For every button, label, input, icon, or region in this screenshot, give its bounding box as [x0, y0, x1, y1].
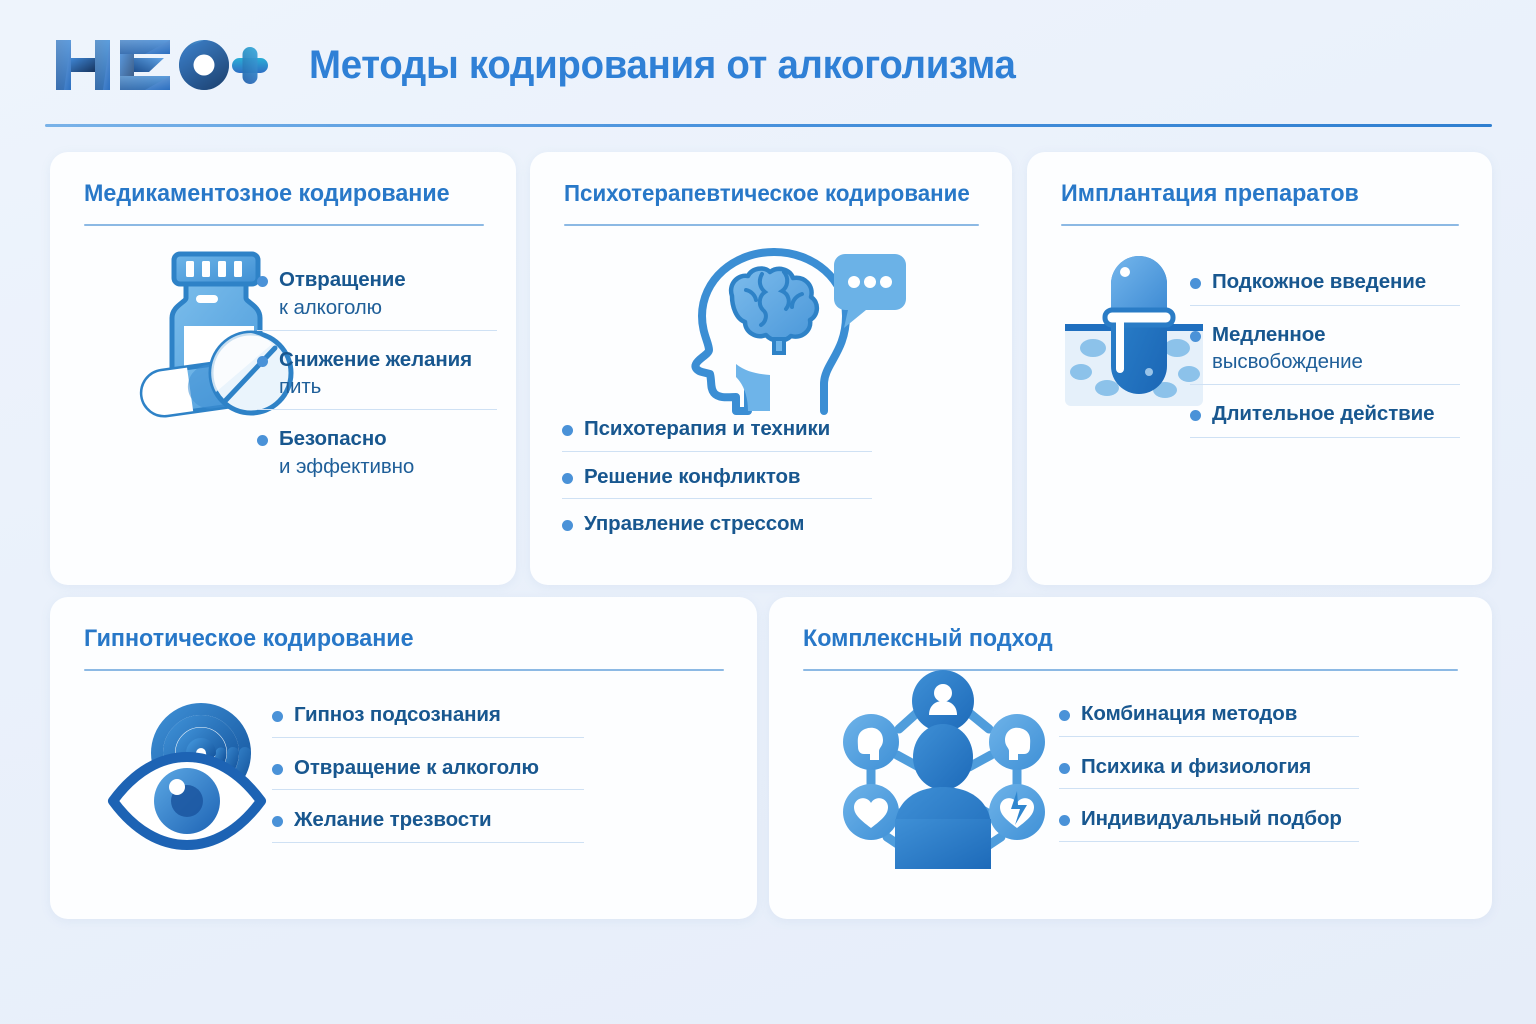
bullet-primary-text: Психотерапия и техники: [584, 416, 872, 443]
bullet-list: Отвращение к алкоголю Снижение желания п…: [257, 267, 497, 505]
bullet-primary-text: Гипноз подсознания: [294, 702, 584, 729]
bullet-list: Комбинация методов Психика и физиология …: [1059, 701, 1359, 859]
hypnosis-eye-spiral-icon: [105, 677, 295, 847]
list-item[interactable]: Комбинация методов: [1059, 701, 1359, 737]
list-item[interactable]: Желание трезвости: [272, 807, 584, 843]
list-item[interactable]: Отвращение к алкоголю: [272, 755, 584, 791]
bullet-primary-text: Отвращение: [279, 267, 497, 294]
capsule-implant-icon: [1059, 248, 1209, 418]
people-network-icon: [827, 669, 1042, 869]
card-psychotherapy-coding[interactable]: Психотерапевтическое кодирование: [530, 152, 1012, 585]
bullet-primary-text: Снижение желания: [279, 347, 497, 374]
card-title: Гипнотическое кодирование: [84, 627, 414, 651]
bullet-primary-text: Комбинация методов: [1081, 701, 1359, 728]
bullet-primary-text: Решение конфликтов: [584, 464, 872, 491]
list-item[interactable]: Отвращение к алкоголю: [257, 267, 497, 331]
list-item[interactable]: Безопасно и эффективно: [257, 426, 497, 489]
bullet-secondary-text: к алкоголю: [279, 294, 497, 321]
card-title-underline: [84, 224, 484, 226]
bullet-dot-icon: [1059, 763, 1070, 774]
bullet-dot-icon: [257, 435, 268, 446]
bullet-dot-icon: [562, 425, 573, 436]
infographic-page: Методы кодирования от алкоголизма Медика…: [0, 0, 1536, 1024]
bullet-dot-icon: [1059, 710, 1070, 721]
bullet-dot-icon: [272, 711, 283, 722]
card-implantation[interactable]: Имплантация препаратов: [1027, 152, 1492, 585]
bullet-primary-text: Безопасно: [279, 426, 497, 453]
card-title: Психотерапевтическое кодирование: [564, 182, 970, 205]
card-medication-coding[interactable]: Медикаментозное кодирование: [50, 152, 516, 585]
card-title: Медикаментозное кодирование: [84, 182, 450, 206]
card-title: Имплантация препаратов: [1061, 182, 1359, 206]
list-item[interactable]: Психотерапия и техники: [562, 416, 872, 452]
bullet-dot-icon: [257, 356, 268, 367]
list-item[interactable]: Управление стрессом: [562, 511, 872, 546]
bullet-dot-icon: [562, 520, 573, 531]
page-title: Методы кодирования от алкоголизма: [309, 45, 1016, 85]
bullet-primary-text: Управление стрессом: [584, 511, 872, 538]
head-brain-speech-icon: [662, 244, 907, 419]
bullet-dot-icon: [1190, 331, 1201, 342]
bullet-list: Психотерапия и техники Решение конфликто…: [562, 416, 872, 558]
page-header: Методы кодирования от алкоголизма: [0, 0, 1536, 130]
list-item[interactable]: Медленное высвобождение: [1190, 322, 1460, 386]
list-item[interactable]: Снижение желания пить: [257, 347, 497, 411]
bullet-dot-icon: [257, 276, 268, 287]
bullet-primary-text: Подкожное введение: [1212, 269, 1460, 296]
bullet-primary-text: Отвращение к алкоголю: [294, 755, 584, 782]
card-hypnotic-coding[interactable]: Гипнотическое кодирование: [50, 597, 757, 919]
bullet-dot-icon: [1190, 410, 1201, 421]
bullet-primary-text: Индивидуальный подбор: [1081, 806, 1359, 833]
card-title-underline: [84, 669, 724, 671]
list-item[interactable]: Подкожное введение: [1190, 269, 1460, 306]
list-item[interactable]: Индивидуальный подбор: [1059, 806, 1359, 842]
list-item[interactable]: Психика и физиология: [1059, 754, 1359, 790]
bullet-list: Гипноз подсознания Отвращение к алкоголю…: [272, 702, 584, 860]
bullet-primary-text: Медленное: [1212, 322, 1460, 349]
bullet-primary-text: Длительное действие: [1212, 401, 1460, 428]
card-title-underline: [564, 224, 979, 226]
bullet-primary-text: Желание трезвости: [294, 807, 584, 834]
neo-plus-logo: [54, 34, 269, 96]
bullet-secondary-text: и эффективно: [279, 453, 497, 480]
card-complex-approach[interactable]: Комплексный подход: [769, 597, 1492, 919]
card-title: Комплексный подход: [803, 627, 1053, 651]
header-divider: [45, 124, 1492, 127]
bullet-secondary-text: высвобождение: [1212, 348, 1460, 375]
bullet-dot-icon: [272, 816, 283, 827]
bullet-dot-icon: [1190, 278, 1201, 289]
list-item[interactable]: Длительное действие: [1190, 401, 1460, 438]
bullet-secondary-text: пить: [279, 373, 497, 400]
bullet-dot-icon: [272, 764, 283, 775]
bullet-dot-icon: [1059, 815, 1070, 826]
bullet-primary-text: Психика и физиология: [1081, 754, 1359, 781]
list-item[interactable]: Решение конфликтов: [562, 464, 872, 500]
list-item[interactable]: Гипноз подсознания: [272, 702, 584, 738]
card-title-underline: [1061, 224, 1459, 226]
bullet-dot-icon: [562, 473, 573, 484]
bullet-list: Подкожное введение Медленное высвобожден…: [1190, 269, 1460, 454]
